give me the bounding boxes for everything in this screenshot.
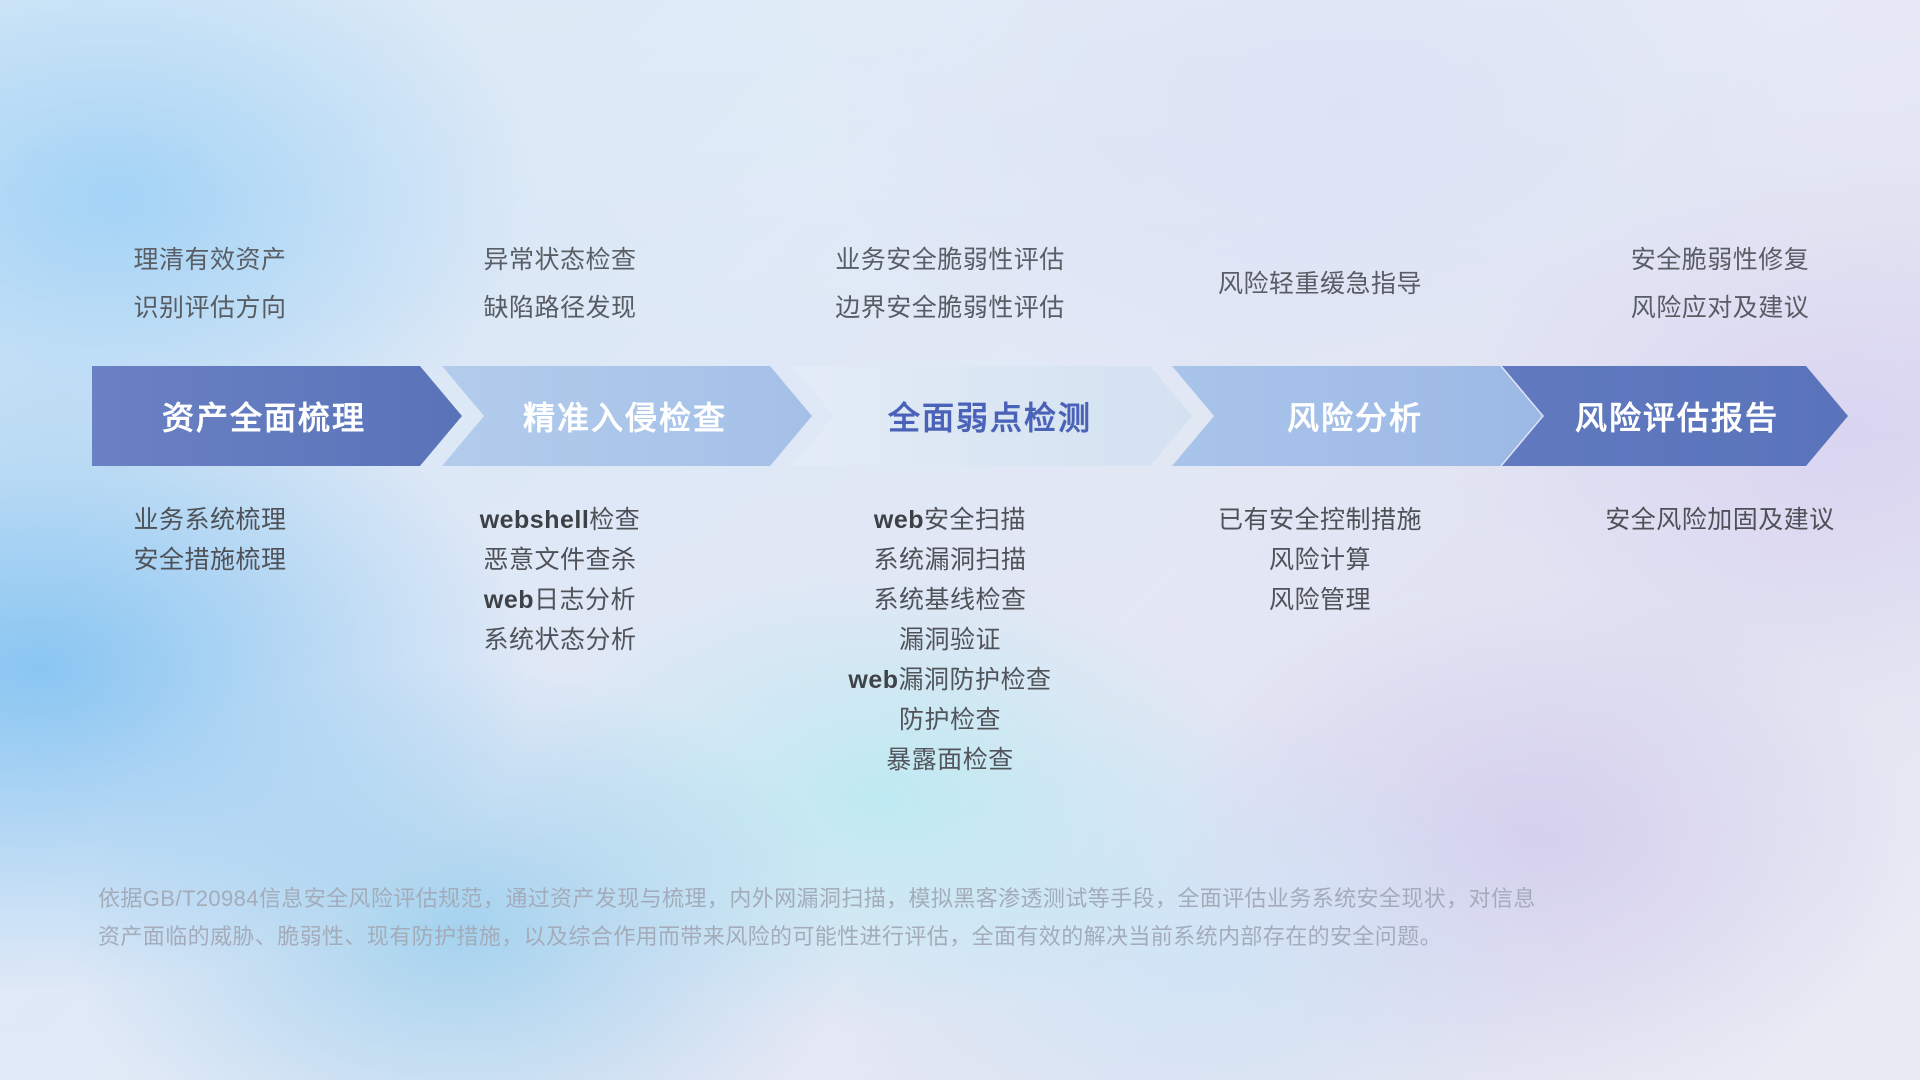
list-item-label: 安全扫描 (924, 506, 1026, 534)
list-item: 风险管理 (1120, 580, 1520, 620)
top-caption: 安全脆弱性修复 (1520, 236, 1920, 284)
list-item: 系统漏洞扫描 (760, 540, 1140, 580)
stage-label: 资产全面梳理 (162, 393, 392, 439)
stage-chevron-asset[interactable]: 资产全面梳理 (92, 366, 462, 466)
list-item-label: 检查 (589, 506, 640, 534)
top-caption: 边界安全脆弱性评估 (760, 284, 1140, 332)
top-caption: 风险应对及建议 (1520, 284, 1920, 332)
list-item: 风险计算 (1120, 540, 1520, 580)
list-item-label: 漏洞防护检查 (899, 666, 1052, 694)
list-item-prefix: web (484, 586, 534, 614)
detail-list-intrusion: webshell检查 恶意文件查杀 web日志分析 系统状态分析 (380, 500, 740, 660)
top-captions-risk-analysis: 风险轻重缓急指导 (1120, 260, 1520, 308)
list-item-label: 恶意文件查杀 (483, 546, 636, 574)
list-item: web漏洞防护检查 (760, 660, 1140, 700)
list-item-label: 暴露面检查 (886, 746, 1014, 774)
list-item: 系统基线检查 (760, 580, 1140, 620)
list-item: 恶意文件查杀 (380, 540, 740, 580)
top-caption: 业务安全脆弱性评估 (760, 236, 1140, 284)
footer-line-2: 资产面临的威胁、脆弱性、现有防护措施，以及综合作用而带来风险的可能性进行评估，全… (98, 918, 1838, 956)
list-item-label: 系统漏洞扫描 (873, 546, 1026, 574)
list-item: 防护检查 (760, 700, 1140, 740)
stage-chevron-report[interactable]: 风险评估报告 (1502, 366, 1848, 466)
detail-list-asset: 业务系统梳理 安全措施梳理 (0, 500, 420, 580)
list-item-prefix: web (874, 506, 924, 534)
stage-chevron-weakness[interactable]: 全面弱点检测 (792, 366, 1192, 466)
top-captions-asset: 理清有效资产 识别评估方向 (0, 236, 420, 332)
top-captions-intrusion: 异常状态检查 缺陷路径发现 (380, 236, 740, 332)
list-item: web日志分析 (380, 580, 740, 620)
list-item: 业务系统梳理 (0, 500, 420, 540)
list-item: 漏洞验证 (760, 620, 1140, 660)
top-caption: 缺陷路径发现 (380, 284, 740, 332)
top-captions-report: 安全脆弱性修复 风险应对及建议 (1520, 236, 1920, 332)
detail-list-risk-analysis: 已有安全控制措施 风险计算 风险管理 (1120, 500, 1520, 620)
list-item-label: 防护检查 (899, 706, 1001, 734)
stage-label: 精准入侵检查 (509, 393, 745, 439)
list-item: 安全风险加固及建议 (1520, 500, 1920, 540)
detail-list-report: 安全风险加固及建议 (1520, 500, 1920, 540)
top-caption: 识别评估方向 (0, 284, 420, 332)
stage-label: 风险分析 (1273, 393, 1441, 439)
list-item: 已有安全控制措施 (1120, 500, 1520, 540)
detail-list-weakness: web安全扫描 系统漏洞扫描 系统基线检查 漏洞验证 web漏洞防护检查 防护检… (760, 500, 1140, 780)
list-item: webshell检查 (380, 500, 740, 540)
list-item-label: 系统基线检查 (873, 586, 1026, 614)
footer-line-1: 依据GB/T20984信息安全风险评估规范，通过资产发现与梳理，内外网漏洞扫描，… (98, 880, 1838, 918)
infographic-canvas: 理清有效资产 识别评估方向 异常状态检查 缺陷路径发现 业务安全脆弱性评估 边界… (0, 0, 1920, 1080)
list-item-label: 日志分析 (534, 586, 636, 614)
list-item-prefix: webshell (480, 506, 590, 534)
process-flow-band: 资产全面梳理 精准入侵检查 (92, 366, 1848, 466)
list-item-label: 漏洞验证 (899, 626, 1001, 654)
top-caption: 理清有效资产 (0, 236, 420, 284)
list-item: 暴露面检查 (760, 740, 1140, 780)
top-caption: 异常状态检查 (380, 236, 740, 284)
list-item: 安全措施梳理 (0, 540, 420, 580)
stage-label: 全面弱点检测 (874, 393, 1110, 439)
list-item-label: 系统状态分析 (483, 626, 636, 654)
footer-description: 依据GB/T20984信息安全风险评估规范，通过资产发现与梳理，内外网漏洞扫描，… (98, 880, 1838, 956)
list-item-prefix: web (848, 666, 898, 694)
list-item: web安全扫描 (760, 500, 1140, 540)
stage-chevron-intrusion[interactable]: 精准入侵检查 (442, 366, 812, 466)
stage-label: 风险评估报告 (1561, 393, 1789, 439)
top-caption: 风险轻重缓急指导 (1120, 260, 1520, 308)
stage-chevron-risk-analysis[interactable]: 风险分析 (1172, 366, 1542, 466)
top-captions-weakness: 业务安全脆弱性评估 边界安全脆弱性评估 (760, 236, 1140, 332)
list-item: 系统状态分析 (380, 620, 740, 660)
